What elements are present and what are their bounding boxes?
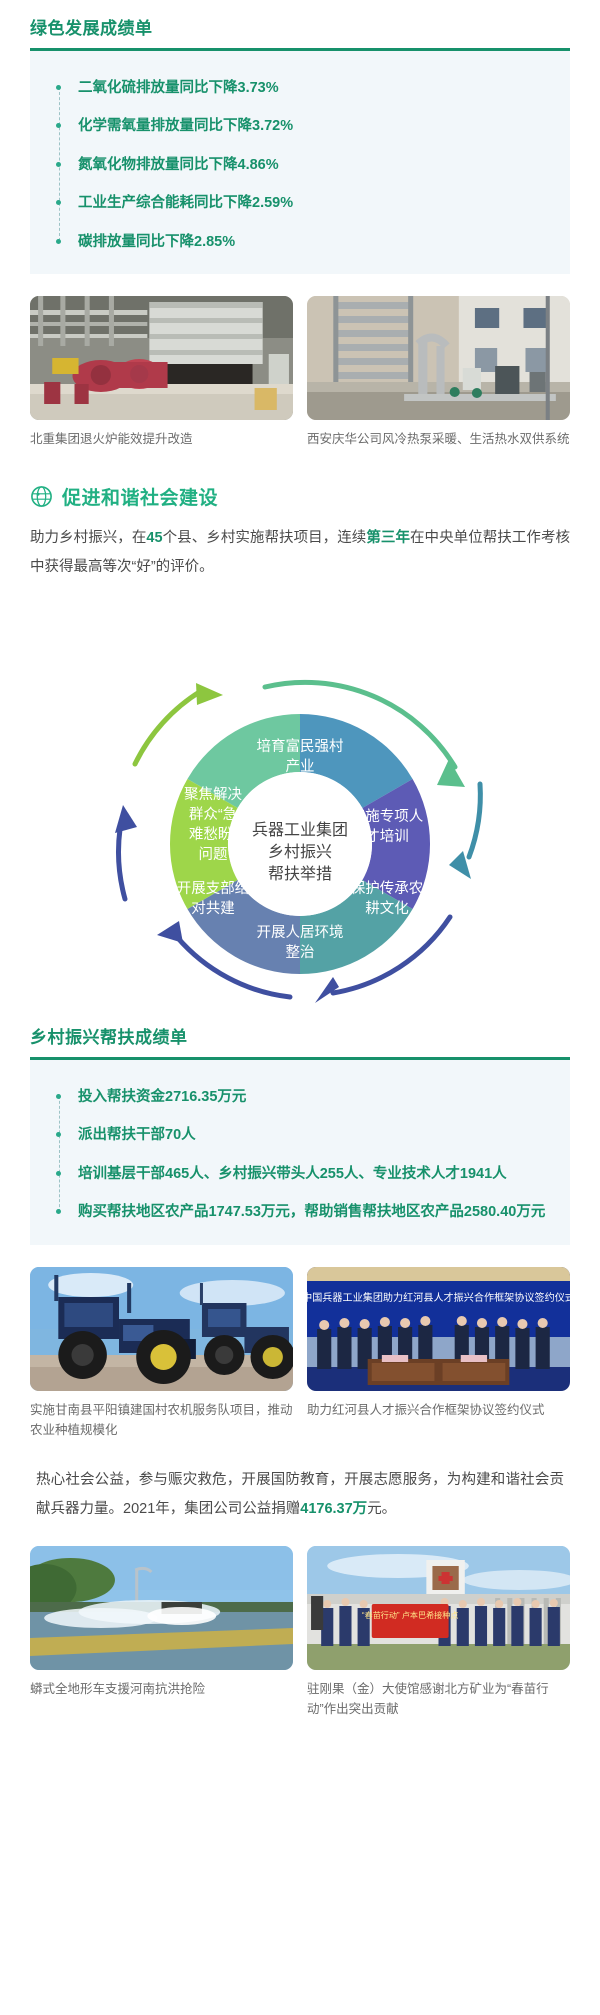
paragraph-text: 个县、乡村实施帮扶项目，连续 <box>163 530 367 546</box>
arrow-path-1 <box>135 691 201 764</box>
slice-label-industry-l2: 产业 <box>286 758 315 775</box>
slice-label-party-l1: 开展支部结 <box>177 880 250 897</box>
green-scorecard-panel: 二氧化硫排放量同比下降3.73% 化学需氧量排放量同比下降3.72% 氮氧化物排… <box>30 51 570 274</box>
slice-label-party-l2: 对共建 <box>191 900 235 917</box>
list-item: 化学需氧量排放量同比下降3.72% <box>78 115 552 137</box>
rural-revitalization-diagram-wrap: 兵器工业集团 乡村振兴 帮扶举措 培育富民强村 产业 实施专项人 才培训 保护传… <box>30 599 570 1009</box>
list-item: 工业生产综合能耗同比下降2.59% <box>78 192 552 214</box>
slice-label-culture-l2: 耕文化 <box>365 899 409 917</box>
green-scorecard: 绿色发展成绩单 二氧化硫排放量同比下降3.73% 化学需氧量排放量同比下降3.7… <box>30 14 570 274</box>
photo-caption: 驻刚果（金）大使馆感谢北方矿业为“春苗行动”作出突出贡献 <box>307 1679 570 1719</box>
photo-cell: 北重集团退火炉能效提升改造 <box>30 296 293 449</box>
welfare-paragraph: 热心社会公益，参与赈灾救危，开展国防教育，开展志愿服务，为构建和谐社会贡献兵器力… <box>30 1466 570 1524</box>
green-scorecard-list: 二氧化硫排放量同比下降3.73% 化学需氧量排放量同比下降3.72% 氮氧化物排… <box>56 77 552 253</box>
paragraph-text: 助力乡村振兴，在 <box>30 530 146 546</box>
photo-caption: 北重集团退火炉能效提升改造 <box>30 429 293 449</box>
banner-text: “春苗行动” 卢本巴希接种点 <box>362 1610 458 1620</box>
green-photo-row: 北重集团退火炉能效提升改造 <box>30 296 570 449</box>
arrow-path-6 <box>119 829 125 899</box>
society-section-header: 促进和谐社会建设 <box>30 483 570 510</box>
society-paragraph: 助力乡村振兴，在45个县、乡村实施帮扶项目，连续第三年在中央单位帮扶工作考核中获… <box>30 524 570 581</box>
rural-scorecard-title: 乡村振兴帮扶成绩单 <box>30 1023 570 1057</box>
rural-revitalization-donut-chart: 兵器工业集团 乡村振兴 帮扶举措 培育富民强村 产业 实施专项人 才培训 保护传… <box>65 599 535 1009</box>
list-item: 购买帮扶地区农产品1747.53万元，帮助销售帮扶地区农产品2580.40万元 <box>78 1201 552 1223</box>
rural-scorecard: 乡村振兴帮扶成绩单 投入帮扶资金2716.35万元 派出帮扶干部70人 培训基层… <box>30 1023 570 1245</box>
photo-caption: 助力红河县人才振兴合作框架协议签约仪式 <box>307 1400 570 1420</box>
photo-caption: 西安庆华公司风冷热泵采暖、生活热水双供系统 <box>307 429 570 449</box>
vaccination-site-photo: “春苗行动” 卢本巴希接种点 <box>307 1546 570 1670</box>
rural-photo-row: 实施甘南县平阳镇建国村农机服务队项目，推动农业种植规模化 中国兵器工业集团助力红… <box>30 1267 570 1440</box>
photo-cell: 实施甘南县平阳镇建国村农机服务队项目，推动农业种植规模化 <box>30 1267 293 1440</box>
banner-line-1: 中国兵器工业集团助力红河县人才振兴合作框架协议签约仪式 <box>307 1291 570 1304</box>
slice-label-training-l2: 才培训 <box>365 828 409 845</box>
list-item: 派出帮扶干部70人 <box>78 1124 552 1146</box>
slice-label-concerns-l3: 难愁盼” <box>189 826 237 843</box>
slice-label-environment-l1: 开展人居环境 <box>257 923 344 941</box>
slice-label-environment-l2: 整治 <box>286 944 315 961</box>
center-line-2: 乡村振兴 <box>268 843 332 861</box>
flood-rescue-vehicle-photo <box>30 1546 293 1670</box>
slice-label-culture-l1: 保护传承农 <box>351 880 424 897</box>
tractor-fleet-photo <box>30 1267 293 1391</box>
slice-label-concerns-l2: 群众“急 <box>189 806 237 823</box>
signing-ceremony-photo: 中国兵器工业集团助力红河县人才振兴合作框架协议签约仪式 <box>307 1267 570 1391</box>
globe-icon <box>30 485 53 508</box>
highlight-count: 45 <box>146 530 162 546</box>
photo-caption: 蟒式全地形车支援河南抗洪抢险 <box>30 1679 293 1699</box>
society-section-title: 促进和谐社会建设 <box>62 483 218 510</box>
annealing-furnace-photo <box>30 296 293 420</box>
list-item: 投入帮扶资金2716.35万元 <box>78 1086 552 1108</box>
rural-scorecard-list: 投入帮扶资金2716.35万元 派出帮扶干部70人 培训基层干部465人、乡村振… <box>56 1086 552 1224</box>
donation-amount: 4176.37万 <box>300 1501 367 1517</box>
center-line-1: 兵器工业集团 <box>252 821 348 839</box>
page-bottom-spacer <box>30 1719 570 1747</box>
slice-label-training-l1: 实施专项人 <box>351 808 424 825</box>
heat-pump-system-photo <box>307 296 570 420</box>
photo-cell: “春苗行动” 卢本巴希接种点 驻刚果（金）大使馆感谢北方矿业为“春苗行动”作出突… <box>307 1546 570 1719</box>
arrow-path-3 <box>469 784 480 857</box>
center-line-3: 帮扶举措 <box>268 865 332 883</box>
photo-caption: 实施甘南县平阳镇建国村农机服务队项目，推动农业种植规模化 <box>30 1400 293 1440</box>
photo-cell: 中国兵器工业集团助力红河县人才振兴合作框架协议签约仪式 <box>307 1267 570 1440</box>
paragraph-text: 元。 <box>367 1501 396 1517</box>
slice-label-concerns-l1: 聚焦解决 <box>184 786 242 803</box>
rural-scorecard-panel: 投入帮扶资金2716.35万元 派出帮扶干部70人 培训基层干部465人、乡村振… <box>30 1060 570 1245</box>
list-item: 氮氧化物排放量同比下降4.86% <box>78 154 552 176</box>
report-page: 绿色发展成绩单 二氧化硫排放量同比下降3.73% 化学需氧量排放量同比下降3.7… <box>0 14 600 1747</box>
list-item: 碳排放量同比下降2.85% <box>78 231 552 253</box>
highlight-year: 第三年 <box>366 530 410 546</box>
slice-label-industry-l1: 培育富民强村 <box>257 737 344 755</box>
list-item: 培训基层干部465人、乡村振兴带头人255人、专业技术人才1941人 <box>78 1163 552 1185</box>
green-scorecard-title: 绿色发展成绩单 <box>30 14 570 48</box>
list-item: 二氧化硫排放量同比下降3.73% <box>78 77 552 99</box>
photo-cell: 西安庆华公司风冷热泵采暖、生活热水双供系统 <box>307 296 570 449</box>
welfare-photo-row: 蟒式全地形车支援河南抗洪抢险 <box>30 1546 570 1719</box>
photo-cell: 蟒式全地形车支援河南抗洪抢险 <box>30 1546 293 1719</box>
slice-label-concerns-l4: 问题 <box>199 846 228 863</box>
